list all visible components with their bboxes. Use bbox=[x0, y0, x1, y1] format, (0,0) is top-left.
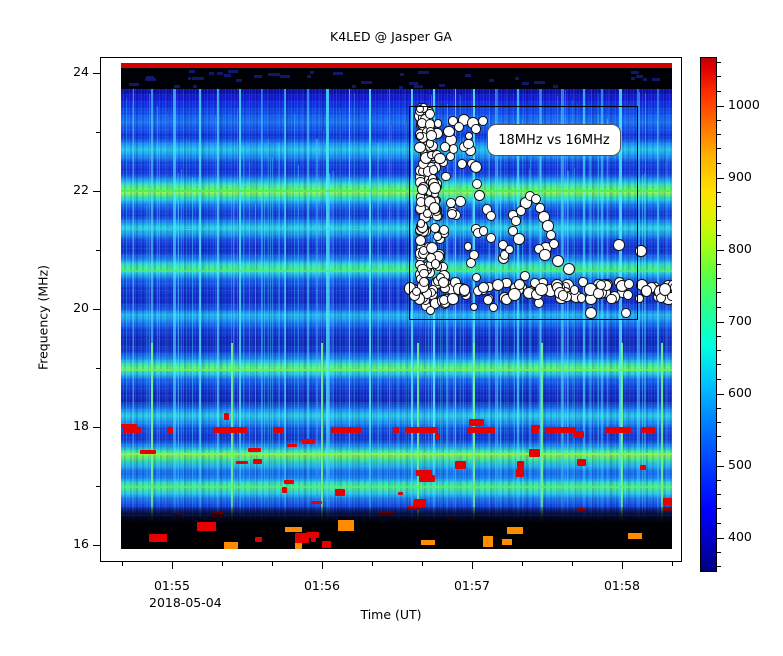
interference-spike-faint bbox=[380, 182, 381, 549]
noise-dash-topband bbox=[439, 84, 445, 87]
noise-dash-topband bbox=[631, 77, 635, 80]
interference-spike-faint bbox=[389, 185, 390, 549]
carrier-dash-18mhz bbox=[273, 427, 283, 433]
interference-spike-faint bbox=[639, 92, 640, 549]
noise-burst-lowband bbox=[149, 534, 167, 542]
carrier-dash-18mhz bbox=[213, 427, 247, 433]
noise-burst-lowband bbox=[507, 527, 523, 534]
colorbar-tick-minor bbox=[717, 278, 721, 279]
interference-spike-faint bbox=[657, 120, 658, 549]
y-tick-major bbox=[93, 545, 100, 546]
colorbar-tick-minor bbox=[717, 163, 721, 164]
noise-burst bbox=[224, 413, 229, 420]
spectrogram-top-noise-floor bbox=[121, 68, 672, 89]
noise-burst-lowband bbox=[338, 520, 354, 531]
y-tick-label: 16 bbox=[73, 536, 89, 551]
annotation-callout[interactable]: 18MHz vs 16MHz bbox=[487, 124, 621, 156]
interference-spike-faint bbox=[340, 109, 341, 549]
noise-dash-topband bbox=[399, 86, 403, 89]
colorbar-tick-minor bbox=[717, 336, 721, 337]
noise-burst bbox=[531, 425, 540, 429]
noise-burst bbox=[419, 475, 435, 482]
noise-burst bbox=[663, 498, 672, 505]
noise-burst-lowband bbox=[295, 543, 302, 549]
interference-spike-faint bbox=[644, 178, 645, 549]
interference-spike bbox=[307, 89, 309, 549]
y-tick-minor bbox=[96, 250, 100, 251]
colorbar-tick-label: 900 bbox=[728, 169, 752, 184]
interference-spike-faint bbox=[200, 203, 201, 549]
carrier-dash-18mhz bbox=[331, 427, 361, 433]
x-tick-label: 01:58 bbox=[604, 578, 640, 593]
colorbar-tick-minor bbox=[717, 364, 721, 365]
interference-spike-faint bbox=[249, 162, 250, 549]
noise-dash-topband bbox=[188, 77, 191, 80]
noise-dash-topband bbox=[414, 85, 423, 88]
noise-burst bbox=[435, 434, 439, 440]
noise-burst bbox=[529, 449, 540, 457]
colorbar-tick-minor bbox=[717, 436, 721, 437]
noise-dash-topband bbox=[224, 74, 231, 77]
noise-burst-lowband bbox=[197, 522, 216, 531]
colorbar-tick-minor bbox=[717, 422, 721, 423]
noise-dash-topband bbox=[361, 81, 372, 84]
y-tick-label: 20 bbox=[73, 300, 89, 315]
colorbar-tick-minor bbox=[717, 62, 721, 63]
x-tick-major bbox=[322, 562, 323, 569]
colorbar[interactable] bbox=[700, 57, 717, 572]
figure-canvas: K4LED @ Jasper GA 18MHz vs 16MHz 2422201… bbox=[0, 0, 783, 656]
noise-burst bbox=[236, 461, 248, 464]
colorbar-gradient bbox=[701, 58, 716, 571]
noise-burst bbox=[302, 439, 315, 444]
noise-burst-lowband bbox=[483, 536, 493, 547]
noise-dash-topband bbox=[489, 79, 494, 82]
interference-spike bbox=[261, 89, 263, 549]
colorbar-tick-minor bbox=[717, 523, 721, 524]
noise-burst bbox=[455, 461, 466, 469]
colorbar-tick-minor bbox=[717, 120, 721, 121]
y-tick-major bbox=[93, 191, 100, 192]
noise-burst-lowband bbox=[224, 542, 238, 549]
colorbar-tick-major bbox=[717, 538, 724, 539]
noise-dash-topband bbox=[254, 75, 262, 78]
colorbar-tick-minor bbox=[717, 76, 721, 77]
x-tick-major bbox=[472, 562, 473, 569]
noise-dash-topband bbox=[174, 85, 180, 88]
carrier-dash-18mhz bbox=[545, 427, 575, 433]
colorbar-tick-minor bbox=[717, 220, 721, 221]
colorbar-tick-major bbox=[717, 250, 724, 251]
carrier-dash-18mhz bbox=[405, 427, 437, 433]
page-title: K4LED @ Jasper GA bbox=[100, 29, 682, 44]
colorbar-tick-minor bbox=[717, 206, 721, 207]
interference-spike-faint bbox=[126, 98, 127, 549]
x-tick-minor bbox=[572, 562, 573, 566]
interference-spike-faint bbox=[298, 165, 299, 549]
interference-spike-faint bbox=[354, 93, 355, 549]
interference-spike-faint bbox=[149, 94, 150, 549]
noise-dash-topband bbox=[217, 72, 223, 75]
carrier-dash-18mhz bbox=[467, 427, 495, 433]
noise-burst-lowband bbox=[421, 540, 435, 545]
x-tick-major bbox=[172, 562, 173, 569]
colorbar-tick-minor bbox=[717, 379, 721, 380]
noise-dash-topband bbox=[418, 71, 429, 74]
noise-dash-topband bbox=[643, 78, 647, 81]
interference-spike-faint bbox=[167, 111, 168, 549]
interference-spike-faint bbox=[377, 143, 378, 549]
noise-burst bbox=[140, 450, 156, 454]
y-tick-minor bbox=[96, 486, 100, 487]
carrier-dash-18mhz bbox=[605, 427, 631, 433]
noise-dash-topband bbox=[515, 77, 519, 80]
spectral-line bbox=[121, 453, 672, 455]
noise-dash-topband bbox=[192, 77, 204, 80]
carrier-dash-18mhz bbox=[641, 427, 655, 433]
noise-dash-topband bbox=[129, 83, 139, 86]
interference-spike-faint bbox=[332, 171, 333, 549]
interference-spike-faint bbox=[132, 102, 133, 549]
x-tick-minor bbox=[672, 562, 673, 566]
noise-burst bbox=[516, 469, 524, 477]
interference-spike-faint bbox=[372, 204, 373, 549]
noise-dash-topband bbox=[553, 85, 558, 88]
noise-dash-topband bbox=[228, 70, 238, 73]
interference-spike-faint bbox=[264, 200, 265, 549]
y-tick-minor bbox=[96, 132, 100, 133]
colorbar-tick-label: 700 bbox=[728, 313, 752, 328]
interference-spike bbox=[173, 89, 176, 549]
carrier-dash-18mhz bbox=[167, 427, 173, 433]
noise-dash-topband bbox=[310, 71, 314, 74]
noise-dash-topband bbox=[333, 72, 343, 75]
colorbar-tick-minor bbox=[717, 451, 721, 452]
colorbar-tick-minor bbox=[717, 566, 721, 567]
colorbar-tick-major bbox=[717, 322, 724, 323]
x-tick-minor bbox=[122, 562, 123, 566]
noise-dash-topband bbox=[268, 73, 280, 76]
noise-dash-topband bbox=[189, 70, 195, 73]
noise-burst bbox=[248, 448, 261, 452]
colorbar-tick-minor bbox=[717, 192, 721, 193]
noise-burst bbox=[284, 480, 294, 484]
annotation-label: 18MHz vs 16MHz bbox=[498, 133, 609, 148]
y-axis-title: Frequency (MHz) bbox=[36, 138, 51, 498]
noise-dash-topband bbox=[522, 82, 529, 85]
noise-dash-topband bbox=[631, 71, 639, 74]
noise-burst-lowband bbox=[502, 539, 512, 545]
colorbar-tick-major bbox=[717, 394, 724, 395]
noise-dash-topband bbox=[400, 73, 404, 76]
colorbar-tick-minor bbox=[717, 307, 721, 308]
x-axis-title: Time (UT) bbox=[100, 607, 682, 622]
interference-spike-faint bbox=[331, 187, 332, 549]
x-tick-minor bbox=[272, 562, 273, 566]
interference-spike-faint bbox=[272, 158, 273, 549]
interference-spike-faint bbox=[181, 169, 182, 549]
y-tick-major bbox=[93, 427, 100, 428]
x-tick-major bbox=[622, 562, 623, 569]
noise-dash-topband bbox=[209, 72, 214, 75]
noise-burst-lowband bbox=[628, 533, 642, 539]
interference-spike-faint bbox=[285, 119, 286, 549]
noise-burst bbox=[253, 459, 262, 464]
y-tick-minor bbox=[96, 368, 100, 369]
noise-burst bbox=[469, 419, 484, 426]
colorbar-tick-major bbox=[717, 106, 724, 107]
interference-spike-faint bbox=[146, 205, 147, 549]
interference-spike-faint bbox=[157, 106, 158, 549]
noise-burst bbox=[577, 459, 586, 466]
noise-burst bbox=[335, 489, 345, 496]
x-tick-minor bbox=[522, 562, 523, 566]
colorbar-tick-label: 1000 bbox=[728, 97, 760, 112]
x-tick-minor bbox=[422, 562, 423, 566]
colorbar-tick-minor bbox=[717, 494, 721, 495]
noise-burst-lowband bbox=[295, 533, 309, 543]
noise-burst-lowband bbox=[311, 537, 316, 542]
x-tick-label: 01:56 bbox=[304, 578, 340, 593]
colorbar-tick-minor bbox=[717, 508, 721, 509]
spectral-line bbox=[121, 369, 672, 371]
noise-dash-topband bbox=[193, 85, 197, 88]
interference-spike-faint bbox=[270, 157, 271, 549]
colorbar-tick-label: 600 bbox=[728, 385, 752, 400]
colorbar-tick-major bbox=[717, 178, 724, 179]
interference-spike-faint bbox=[233, 183, 234, 549]
colorbar-tick-major bbox=[717, 466, 724, 467]
interference-spike-faint bbox=[666, 153, 667, 549]
noise-burst-lowband bbox=[285, 527, 302, 532]
spectral-line bbox=[121, 486, 672, 488]
noise-dash-topband bbox=[280, 75, 290, 78]
noise-dash-topband bbox=[652, 78, 660, 81]
noise-burst bbox=[311, 501, 322, 504]
noise-burst bbox=[121, 424, 137, 428]
noise-burst bbox=[282, 487, 287, 493]
x-tick-minor bbox=[222, 562, 223, 566]
carrier-dash-18mhz bbox=[393, 427, 399, 433]
noise-dash-topband bbox=[636, 75, 643, 78]
noise-burst bbox=[287, 444, 297, 447]
noise-burst bbox=[517, 461, 524, 469]
colorbar-tick-minor bbox=[717, 350, 721, 351]
colorbar-tick-minor bbox=[717, 264, 721, 265]
x-tick-label: 01:57 bbox=[454, 578, 490, 593]
interference-spike bbox=[239, 89, 241, 549]
interference-spike-faint bbox=[192, 177, 193, 549]
colorbar-tick-label: 500 bbox=[728, 457, 752, 472]
y-tick-major bbox=[93, 73, 100, 74]
y-tick-label: 22 bbox=[73, 182, 89, 197]
noise-burst bbox=[398, 492, 403, 495]
noise-dash-topband bbox=[145, 78, 156, 81]
interference-spike-faint bbox=[294, 114, 295, 549]
interference-spike-faint bbox=[215, 116, 216, 549]
x-tick-minor bbox=[372, 562, 373, 566]
noise-dash-topband bbox=[236, 79, 242, 82]
interference-spike bbox=[217, 89, 219, 549]
colorbar-tick-minor bbox=[717, 552, 721, 553]
y-tick-major bbox=[93, 309, 100, 310]
colorbar-tick-minor bbox=[717, 91, 721, 92]
colorbar-tick-minor bbox=[717, 235, 721, 236]
spectrogram-image[interactable]: 18MHz vs 16MHz bbox=[121, 63, 672, 549]
interference-spike-faint bbox=[159, 148, 160, 549]
colorbar-tick-minor bbox=[717, 480, 721, 481]
interference-spike-faint bbox=[278, 143, 279, 549]
y-tick-label: 18 bbox=[73, 418, 89, 433]
interference-spike-faint bbox=[346, 177, 347, 549]
noise-dash-topband bbox=[465, 74, 471, 77]
x-tick-label: 01:55 bbox=[154, 578, 190, 593]
interference-spike-faint bbox=[237, 108, 238, 549]
interference-spike-faint bbox=[671, 148, 672, 549]
interference-spike-faint bbox=[255, 204, 256, 549]
y-tick-label: 24 bbox=[73, 64, 89, 79]
interference-spike-faint bbox=[178, 200, 179, 549]
plot-axes[interactable]: 18MHz vs 16MHz bbox=[100, 57, 682, 562]
noise-burst bbox=[640, 465, 646, 470]
interference-spike-faint bbox=[243, 146, 244, 549]
noise-burst-lowband bbox=[255, 537, 262, 542]
colorbar-tick-minor bbox=[717, 408, 721, 409]
noise-burst bbox=[574, 431, 584, 438]
interference-spike bbox=[349, 89, 350, 549]
noise-dash-topband bbox=[352, 85, 356, 88]
noise-dash-topband bbox=[307, 75, 311, 78]
colorbar-tick-minor bbox=[717, 292, 721, 293]
colorbar-tick-minor bbox=[717, 134, 721, 135]
noise-burst-lowband bbox=[322, 541, 331, 548]
colorbar-tick-minor bbox=[717, 148, 721, 149]
noise-dash-topband bbox=[534, 81, 545, 84]
colorbar-tick-label: 800 bbox=[728, 241, 752, 256]
colorbar-tick-label: 400 bbox=[728, 529, 752, 544]
